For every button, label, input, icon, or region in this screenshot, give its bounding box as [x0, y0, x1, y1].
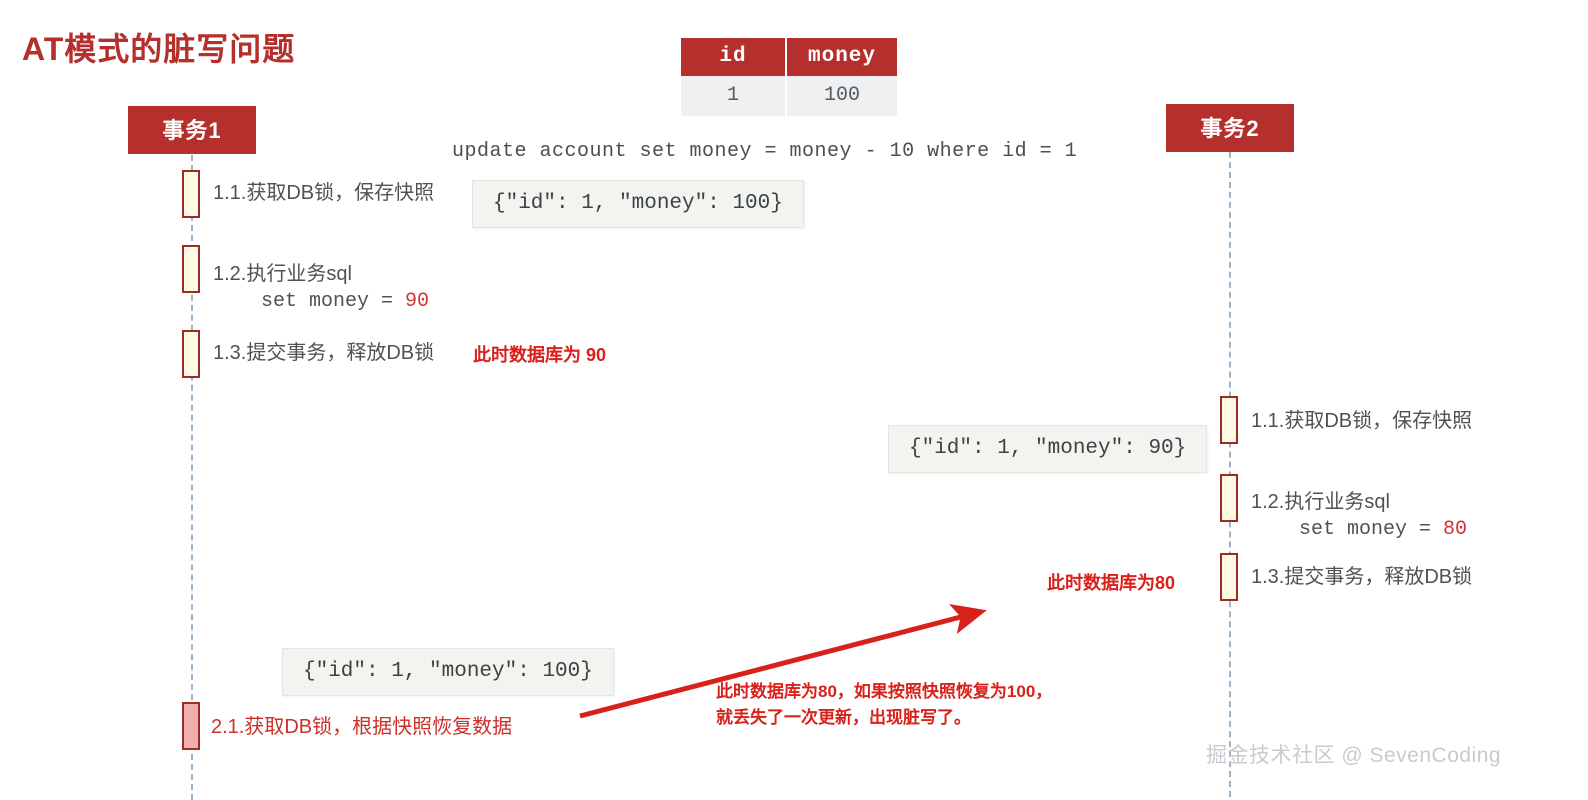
step-label-tx1-2-1: 2.1.获取DB锁，根据快照恢复数据 — [211, 714, 512, 740]
lifeline-tx2 — [1229, 142, 1231, 797]
table-row: 1 100 — [681, 76, 897, 116]
note-snapshot-tx2-initial: {"id": 1, "money": 90} — [888, 425, 1207, 473]
step-line-1: 1.2.执行业务sql — [213, 263, 352, 285]
table-header-money: money — [787, 38, 897, 76]
diagram-canvas: AT模式的脏写问题 id money 1 100 update account … — [0, 0, 1588, 800]
account-table: id money 1 100 — [679, 38, 899, 116]
actor-tx2: 事务2 — [1166, 104, 1294, 152]
activation-tx2-step-1-1 — [1220, 396, 1238, 444]
step-label-tx1-1-3: 1.3.提交事务，释放DB锁 — [213, 340, 434, 366]
activation-tx1-step-1-1 — [182, 170, 200, 218]
activation-tx2-step-1-3 — [1220, 553, 1238, 601]
activation-tx1-step-1-2 — [182, 245, 200, 293]
actor-tx1: 事务1 — [128, 106, 256, 154]
dirty-write-line-1: 此时数据库为80，如果按照快照恢复为100， — [716, 682, 1052, 701]
step-label-tx2-1-3: 1.3.提交事务，释放DB锁 — [1251, 564, 1472, 590]
annotation-db-value-90: 此时数据库为 90 — [473, 342, 606, 370]
activation-tx2-step-1-2 — [1220, 474, 1238, 522]
step-line-2-prefix: set money = — [1251, 518, 1443, 541]
table-cell-money: 100 — [787, 76, 897, 116]
watermark: 掘金技术社区 @ SevenCoding — [1206, 739, 1501, 769]
step-line-2-value: 90 — [405, 290, 429, 313]
step-label-tx1-1-1: 1.1.获取DB锁，保存快照 — [213, 180, 434, 206]
table-header-row: id money — [681, 38, 897, 76]
note-snapshot-tx1-initial: {"id": 1, "money": 100} — [472, 180, 804, 228]
table-header-id: id — [681, 38, 785, 76]
step-line-2-value: 80 — [1443, 518, 1467, 541]
annotation-dirty-write: 此时数据库为80，如果按照快照恢复为100，就丢失了一次更新，出现脏写了。 — [716, 679, 1052, 732]
note-snapshot-tx1-rollback: {"id": 1, "money": 100} — [282, 648, 614, 696]
page-title: AT模式的脏写问题 — [22, 24, 295, 70]
step-line-1: 1.2.执行业务sql — [1251, 491, 1390, 513]
activation-tx1-step-2-1 — [182, 702, 200, 750]
step-label-tx1-1-2: 1.2.执行业务sql set money = 90 — [213, 261, 429, 316]
step-line-2-prefix: set money = — [213, 290, 405, 313]
activation-tx1-step-1-3 — [182, 330, 200, 378]
dirty-write-line-2: 就丢失了一次更新，出现脏写了。 — [716, 708, 971, 727]
step-label-tx2-1-1: 1.1.获取DB锁，保存快照 — [1251, 408, 1472, 434]
step-label-tx2-1-2: 1.2.执行业务sql set money = 80 — [1251, 489, 1467, 544]
sql-statement: update account set money = money - 10 wh… — [452, 140, 1077, 163]
table-cell-id: 1 — [681, 76, 785, 116]
annotation-db-value-80: 此时数据库为80 — [1047, 570, 1175, 598]
